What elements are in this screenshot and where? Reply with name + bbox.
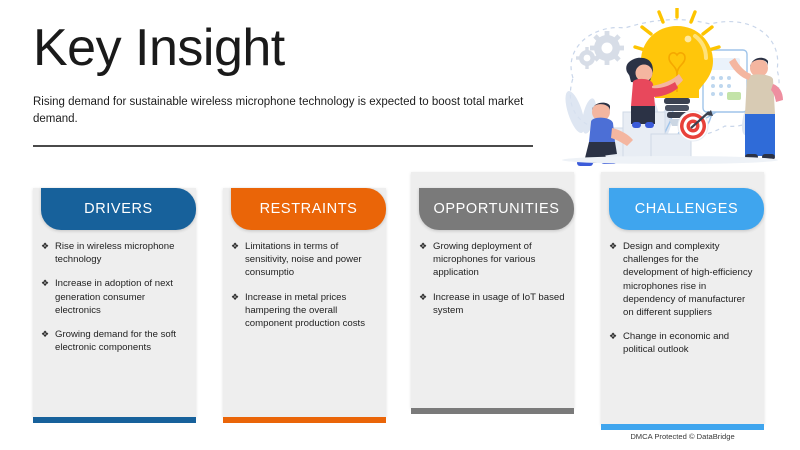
card-header-drivers[interactable]: DRIVERS [41, 188, 196, 230]
card-bullet-list: ❖Limitations in terms of sensitivity, no… [231, 240, 378, 341]
card-header-label: RESTRAINTS [260, 201, 358, 217]
diamond-bullet-icon: ❖ [419, 240, 427, 253]
card-header-label: CHALLENGES [635, 201, 739, 217]
idea-teamwork-lightbulb-illustration [545, 8, 795, 166]
list-item-text: Rise in wireless microphone technology [55, 241, 174, 265]
list-item: ❖Limitations in terms of sensitivity, no… [231, 240, 378, 280]
page-title: Key Insight [33, 18, 285, 78]
diamond-bullet-icon: ❖ [231, 291, 239, 304]
card-accent-bar [411, 408, 574, 414]
column-card-challenges[interactable]: CHALLENGES ❖Design and complexity challe… [601, 172, 764, 430]
diamond-bullet-icon: ❖ [41, 240, 49, 253]
list-item: ❖Increase in usage of IoT based system [419, 291, 566, 317]
slide-root: Key Insight Rising demand for sustainabl… [0, 0, 800, 450]
diamond-bullet-icon: ❖ [41, 328, 49, 341]
card-accent-bar [601, 424, 764, 430]
card-header-label: DRIVERS [84, 201, 153, 217]
card-bullet-list: ❖Growing deployment of microphones for v… [419, 240, 566, 328]
card-header-label: OPPORTUNITIES [434, 201, 560, 217]
card-accent-bar [223, 417, 386, 423]
card-bullet-list: ❖Rise in wireless microphone technology … [41, 240, 188, 365]
column-card-opportunities[interactable]: OPPORTUNITIES ❖Growing deployment of mic… [411, 172, 574, 414]
list-item-text: Design and complexity challenges for the… [623, 241, 752, 318]
list-item: ❖Change in economic and political outloo… [609, 330, 756, 356]
list-item-text: Change in economic and political outlook [623, 331, 729, 355]
card-accent-bar [33, 417, 196, 423]
diamond-bullet-icon: ❖ [419, 291, 427, 304]
diamond-bullet-icon: ❖ [609, 240, 617, 253]
list-item: ❖Design and complexity challenges for th… [609, 240, 756, 319]
diamond-bullet-icon: ❖ [609, 330, 617, 343]
list-item: ❖Growing demand for the soft electronic … [41, 328, 188, 354]
diamond-bullet-icon: ❖ [41, 277, 49, 290]
list-item-text: Increase in metal prices hampering the o… [245, 292, 365, 329]
list-item-text: Increase in usage of IoT based system [433, 292, 565, 316]
list-item: ❖Increase in metal prices hampering the … [231, 291, 378, 331]
list-item: ❖Rise in wireless microphone technology [41, 240, 188, 266]
card-header-restraints[interactable]: RESTRAINTS [231, 188, 386, 230]
list-item-text: Growing deployment of microphones for va… [433, 241, 535, 278]
list-item: ❖Increase in adoption of next generation… [41, 277, 188, 317]
list-item-text: Increase in adoption of next generation … [55, 278, 173, 315]
column-card-restraints[interactable]: RESTRAINTS ❖Limitations in terms of sens… [223, 188, 386, 423]
card-header-challenges[interactable]: CHALLENGES [609, 188, 764, 230]
column-card-drivers[interactable]: DRIVERS ❖Rise in wireless microphone tec… [33, 188, 196, 423]
card-header-opportunities[interactable]: OPPORTUNITIES [419, 188, 574, 230]
list-item-text: Growing demand for the soft electronic c… [55, 329, 176, 353]
diamond-bullet-icon: ❖ [231, 240, 239, 253]
card-bullet-list: ❖Design and complexity challenges for th… [609, 240, 756, 368]
header-divider [33, 145, 533, 147]
list-item: ❖Growing deployment of microphones for v… [419, 240, 566, 280]
list-item-text: Limitations in terms of sensitivity, noi… [245, 241, 362, 278]
page-subtitle: Rising demand for sustainable wireless m… [33, 94, 538, 128]
footer-copyright: DMCA Protected © DataBridge [601, 432, 764, 441]
